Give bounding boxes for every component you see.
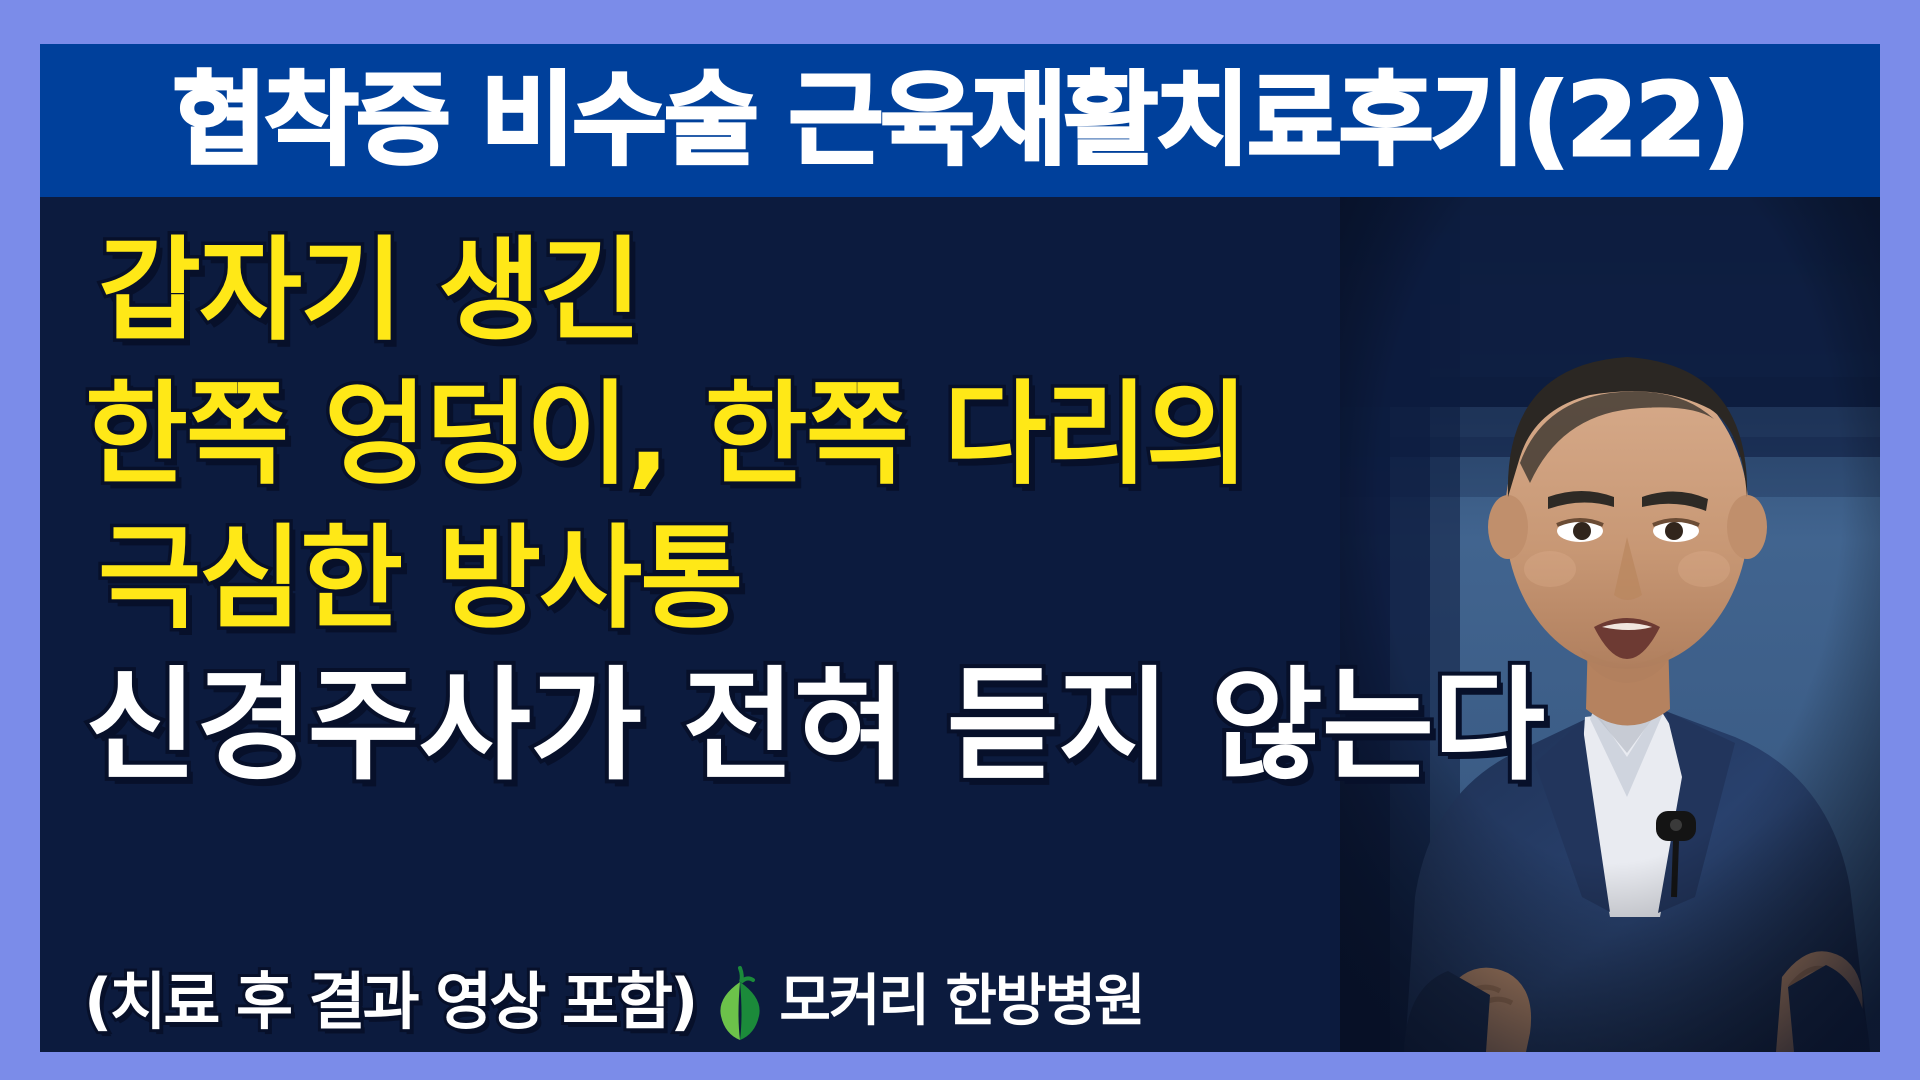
hospital-logo-text: 모커리 한방병원	[779, 974, 1143, 1030]
doctor-photo	[1190, 197, 1880, 1052]
thumbnail-canvas: 협착증 비수술 근육재활치료후기(22)	[0, 0, 1920, 1080]
headline-line-3: 극심한 방사통	[98, 523, 741, 635]
page-title: 협착증 비수술 근육재활치료후기(22)	[173, 70, 1748, 171]
footer-row: (치료 후 결과 영상 포함) 모커리 한방병원	[84, 964, 1144, 1040]
doctor-illustration	[1190, 197, 1880, 1052]
header-bar: 협착증 비수술 근육재활치료후기(22)	[40, 44, 1880, 197]
content-panel: 갑자기 생긴 한쪽 엉덩이, 한쪽 다리의 극심한 방사통 신경주사가 전혀 듣…	[40, 197, 1880, 1052]
headline-line-2: 한쪽 엉덩이, 한쪽 다리의	[85, 379, 1247, 491]
headline-line-1: 갑자기 생긴	[98, 235, 640, 347]
green-leaf-icon	[713, 964, 767, 1040]
footer-note: (치료 후 결과 영상 포함)	[84, 971, 695, 1033]
hospital-logo: 모커리 한방병원	[713, 964, 1143, 1040]
